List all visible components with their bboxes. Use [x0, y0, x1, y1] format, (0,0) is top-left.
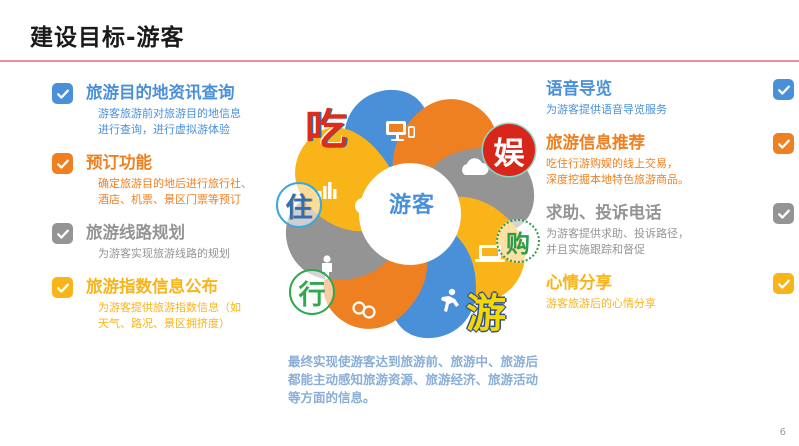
feature-item-route-planning[interactable]: 旅游线路规划 为游客实现旅游线路的规划 — [52, 222, 302, 262]
feature-item-info-recommend[interactable]: 旅游信息推荐 吃住行游购娱的线上交易， 深度挖掘本地特色旅游商品。 — [546, 132, 794, 188]
feature-desc: 为游客实现旅游线路的规划 — [52, 246, 302, 262]
feature-item-mood-share[interactable]: 心情分享 游客旅游后的心情分享 — [546, 272, 794, 312]
check-icon[interactable] — [773, 79, 794, 100]
check-icon[interactable] — [52, 223, 73, 244]
page-number: 6 — [780, 427, 786, 438]
seal-xing: 行 — [289, 269, 335, 315]
summary-paragraph: 最终实现使游客达到旅游前、旅游中、旅游后都能主动感知旅游资源、旅游经济、旅游活动… — [288, 353, 543, 407]
seal-chi: 吃 — [296, 102, 356, 150]
seal-gou: 购 — [496, 219, 540, 263]
feature-item-index-publish[interactable]: 旅游指数信息公布 为游客提供旅游指数信息（如 天气、路况、景区拥挤度） — [52, 276, 302, 332]
feature-item-help-complaint[interactable]: 求助、投诉电话 为游客提供求助、投诉路径， 并且实施跟踪和督促 — [546, 202, 794, 258]
feature-desc: 游客旅游前对旅游目的地信息 进行查询，进行虚拟游体验 — [52, 106, 302, 138]
feature-title: 求助、投诉电话 — [546, 202, 794, 223]
feature-desc: 为游客提供语音导览服务 — [546, 102, 794, 118]
check-icon[interactable] — [52, 277, 73, 298]
feature-item-booking[interactable]: 预订功能 确定旅游目的地后进行旅行社、 酒店、机票、景区门票等预订 — [52, 152, 302, 208]
feature-title: 旅游指数信息公布 — [52, 276, 302, 297]
page-title: 建设目标-游客 — [30, 18, 185, 52]
feature-desc: 确定旅游目的地后进行旅行社、 酒店、机票、景区门票等预订 — [52, 176, 302, 208]
feature-desc: 为游客提供旅游指数信息（如 天气、路况、景区拥挤度） — [52, 300, 302, 332]
feature-item-audio-guide[interactable]: 语音导览 为游客提供语音导览服务 — [546, 78, 794, 118]
feature-desc: 为游客提供求助、投诉路径， 并且实施跟踪和督促 — [546, 226, 794, 258]
seal-zhu: 住 — [276, 182, 322, 228]
check-icon[interactable] — [773, 203, 794, 224]
check-icon[interactable] — [773, 133, 794, 154]
right-feature-list: 语音导览 为游客提供语音导览服务 旅游信息推荐 吃住行游购娱的线上交易， 深度挖… — [546, 78, 794, 326]
feature-title: 预订功能 — [52, 152, 302, 173]
check-icon[interactable] — [773, 273, 794, 294]
feature-title: 旅游线路规划 — [52, 222, 302, 243]
feature-desc: 吃住行游购娱的线上交易， 深度挖掘本地特色旅游商品。 — [546, 156, 794, 188]
feature-title: 心情分享 — [546, 272, 794, 293]
seal-yu: 娱 — [483, 124, 535, 176]
check-icon[interactable] — [52, 153, 73, 174]
seal-you: 游 — [456, 285, 516, 335]
feature-title: 旅游目的地资讯查询 — [52, 82, 302, 103]
check-icon[interactable] — [52, 83, 73, 104]
feature-item-destination-query[interactable]: 旅游目的地资讯查询 游客旅游前对旅游目的地信息 进行查询，进行虚拟游体验 — [52, 82, 302, 138]
left-feature-list: 旅游目的地资讯查询 游客旅游前对旅游目的地信息 进行查询，进行虚拟游体验 预订功… — [52, 82, 302, 346]
feature-title: 语音导览 — [546, 78, 794, 99]
feature-title: 旅游信息推荐 — [546, 132, 794, 153]
title-divider — [0, 60, 799, 62]
diagram-center-label: 游客 — [370, 187, 454, 219]
feature-desc: 游客旅游后的心情分享 — [546, 296, 794, 312]
